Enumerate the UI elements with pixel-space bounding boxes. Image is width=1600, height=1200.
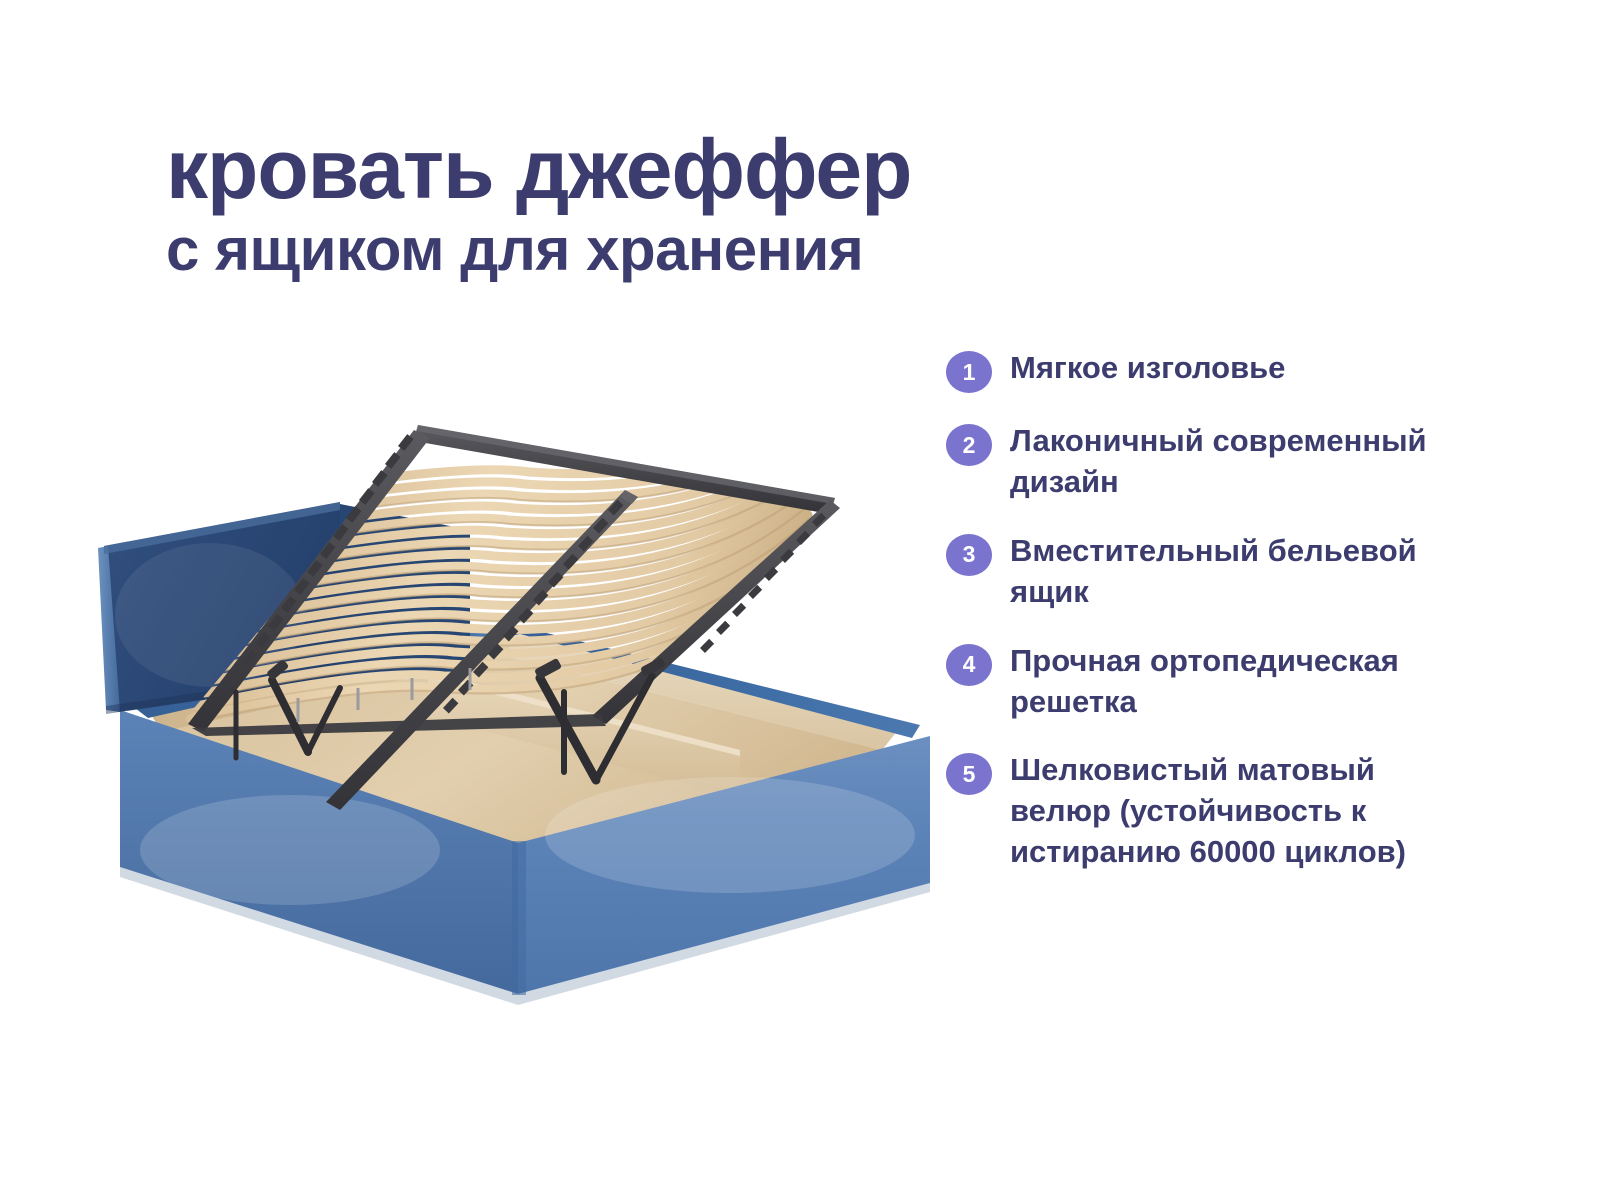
product-title-line1: кровать джеффер (166, 128, 1166, 210)
infographic-canvas: кровать джеффер с ящиком для хранения 1 … (0, 0, 1600, 1200)
feature-label-5: Шелковистый матовый велюр (устойчивость … (1010, 750, 1460, 873)
feature-list: 1 Мягкое изголовье 2 Лаконичный современ… (946, 348, 1466, 901)
feature-item-1: 1 Мягкое изголовье (946, 348, 1466, 393)
feature-label-2: Лаконичный современный дизайн (1010, 421, 1460, 503)
feature-label-3: Вместительный бельевой ящик (1010, 531, 1460, 613)
bed-base-corner-seam (512, 841, 526, 995)
feature-item-2: 2 Лаконичный современный дизайн (946, 421, 1466, 503)
product-photo-bed (40, 380, 960, 1060)
feature-item-3: 3 Вместительный бельевой ящик (946, 531, 1466, 613)
page-title: кровать джеффер с ящиком для хранения (166, 128, 1166, 281)
product-subtitle-line2: с ящиком для хранения (166, 218, 1166, 281)
feature-item-5: 5 Шелковистый матовый велюр (устойчивост… (946, 750, 1466, 873)
feature-label-1: Мягкое изголовье (1010, 348, 1285, 389)
feature-item-4: 4 Прочная ортопедическая решетка (946, 641, 1466, 723)
feature-label-4: Прочная ортопедическая решетка (1010, 641, 1460, 723)
